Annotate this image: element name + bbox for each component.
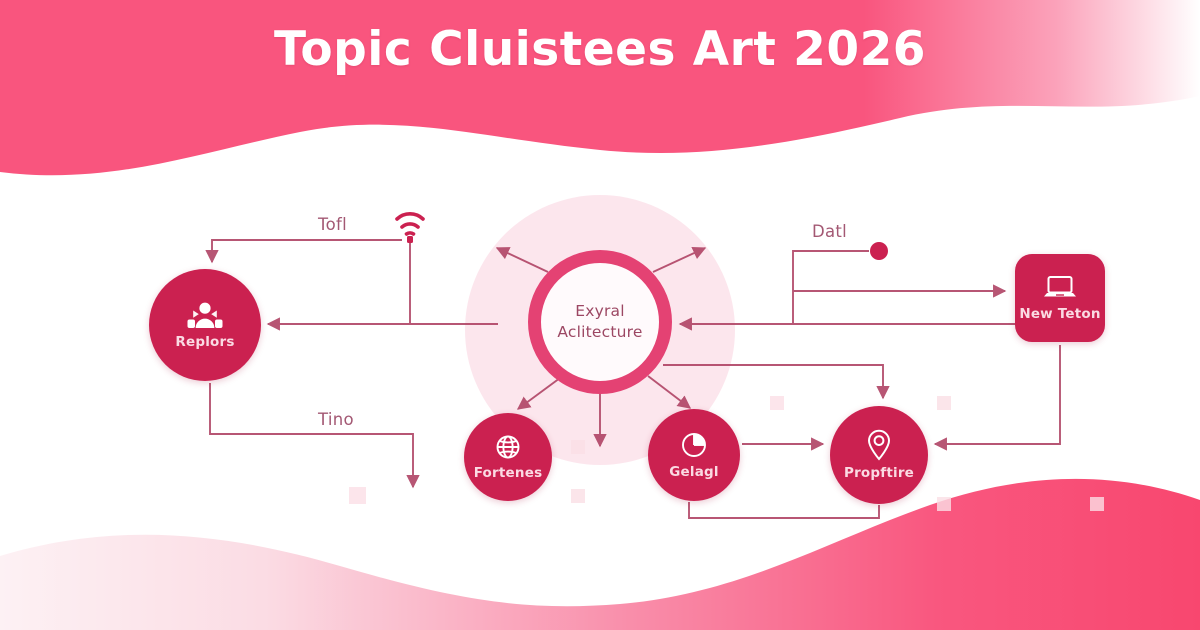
node-replors-label: Replors: [175, 335, 234, 349]
location-pin-icon: [865, 429, 893, 461]
edge-replors-to-tino: [210, 383, 413, 487]
globe-icon: [494, 433, 522, 461]
central-hub-line1: Exyral: [557, 301, 642, 322]
wifi-signal-base: [407, 236, 413, 243]
node-new-teton-label: New Teton: [1019, 307, 1100, 321]
central-hub-text: Exyral Aclitecture: [557, 301, 642, 343]
edge-label-tofl: Tofl: [318, 215, 347, 234]
footer-wave-band: [0, 479, 1200, 630]
node-propftire-label: Propftire: [844, 466, 914, 480]
pie-chart-icon: [679, 430, 709, 460]
edge-label-tino: Tino: [318, 410, 354, 429]
edge-datl-rail: [793, 251, 869, 324]
node-new-teton[interactable]: New Teton: [1015, 254, 1105, 342]
node-propftire[interactable]: Propftire: [830, 406, 928, 504]
users-icon: [186, 300, 224, 330]
datl-terminal-dot: [870, 242, 888, 260]
node-gelagl[interactable]: Gelagl: [648, 409, 740, 501]
laptop-icon: [1041, 274, 1079, 302]
wifi-signal-icon: [397, 214, 423, 234]
node-gelagl-label: Gelagl: [669, 465, 718, 479]
edge-label-datl: Datl: [812, 222, 847, 241]
edge-new-teton-to-propftire: [935, 345, 1060, 444]
edge-gelagl-propftire-loop: [689, 502, 879, 518]
central-hub-node[interactable]: Exyral Aclitecture: [528, 250, 672, 394]
node-fortenes[interactable]: Fortenes: [464, 413, 552, 501]
edge-tofl-to-replors: [212, 240, 402, 262]
node-fortenes-label: Fortenes: [474, 466, 543, 480]
page-title: Topic Cluistees Art 2026: [0, 22, 1200, 77]
central-hub-line2: Aclitecture: [557, 322, 642, 343]
node-replors[interactable]: Replors: [149, 269, 261, 381]
